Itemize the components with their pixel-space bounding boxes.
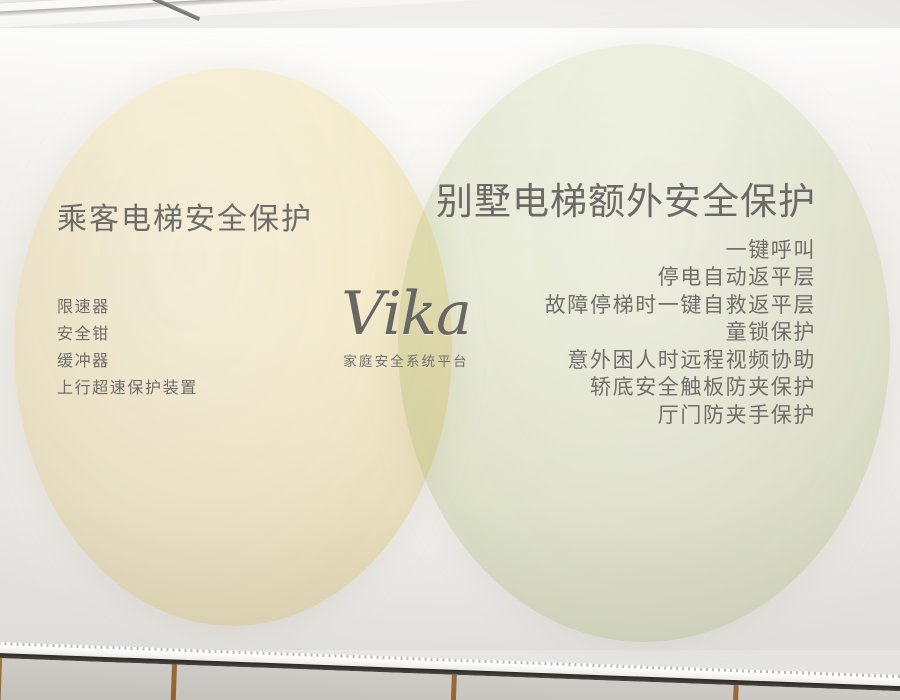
brand-lockup: Vika 家庭安全系统平台 (326, 282, 486, 370)
list-item: 限速器 (57, 294, 357, 321)
villa-elevator-title: 别墅电梯额外安全保护 (396, 180, 816, 224)
list-item: 上行超速保护装置 (57, 375, 357, 402)
passenger-elevator-content: 乘客电梯安全保护 限速器 安全钳 缓冲器 上行超速保护装置 (57, 202, 357, 418)
list-item: 厅门防夹手保护 (396, 402, 816, 430)
wall-graphic-scene: 乘客电梯安全保护 限速器 安全钳 缓冲器 上行超速保护装置 别墅电梯额外安全保护… (0, 0, 900, 700)
list-item: 轿底安全触板防夹保护 (396, 374, 816, 402)
brand-wordmark: Vika (326, 282, 486, 346)
list-item: 缓冲器 (57, 348, 357, 375)
passenger-elevator-list: 限速器 安全钳 缓冲器 上行超速保护装置 (57, 294, 357, 402)
brand-subtitle: 家庭安全系统平台 (326, 350, 486, 370)
list-item: 一键呼叫 (396, 237, 816, 265)
passenger-elevator-title: 乘客电梯安全保护 (57, 202, 357, 238)
list-item: 安全钳 (57, 321, 357, 348)
